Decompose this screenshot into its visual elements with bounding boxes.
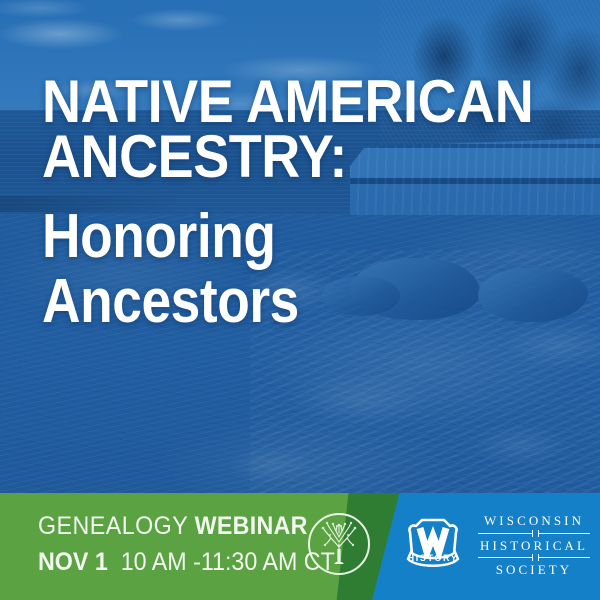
headline-line-4: Ancestors bbox=[42, 273, 498, 330]
family-tree-icon bbox=[306, 511, 372, 577]
headline-line-3: Honoring bbox=[42, 208, 498, 265]
footer-datetime: NOV 1 10 AM -11:30 AM CT bbox=[38, 547, 335, 578]
headline-line-2: ANCESTRY: bbox=[42, 129, 519, 184]
footer-time: 10 AM -11:30 AM CT bbox=[121, 548, 335, 576]
wisconsin-historical-society-wordmark: WISCONSIN HISTORICAL SOCIETY bbox=[478, 514, 590, 577]
org-line-2: HISTORICAL bbox=[478, 539, 590, 553]
badge-ribbon-text: HISTORY bbox=[408, 553, 459, 563]
footer-event-type-light: GENEALOGY bbox=[38, 512, 188, 540]
poster-headline: NATIVE AMERICAN ANCESTRY: Honoring Ances… bbox=[42, 74, 572, 330]
event-promo-poster: NATIVE AMERICAN ANCESTRY: Honoring Ances… bbox=[0, 0, 600, 600]
headline-line-1: NATIVE AMERICAN bbox=[42, 74, 519, 129]
footer-date: NOV 1 bbox=[38, 548, 108, 576]
org-line-1: WISCONSIN bbox=[478, 514, 590, 528]
wisconsin-historical-society-badge-icon: HISTORY bbox=[396, 508, 470, 582]
footer-event-type-bold: WEBINAR bbox=[195, 512, 308, 540]
wordmark-divider-1 bbox=[478, 530, 590, 537]
wordmark-divider-2 bbox=[478, 554, 590, 561]
org-line-3: SOCIETY bbox=[478, 563, 590, 577]
footer-event-type: GENEALOGY WEBINAR bbox=[38, 511, 335, 541]
